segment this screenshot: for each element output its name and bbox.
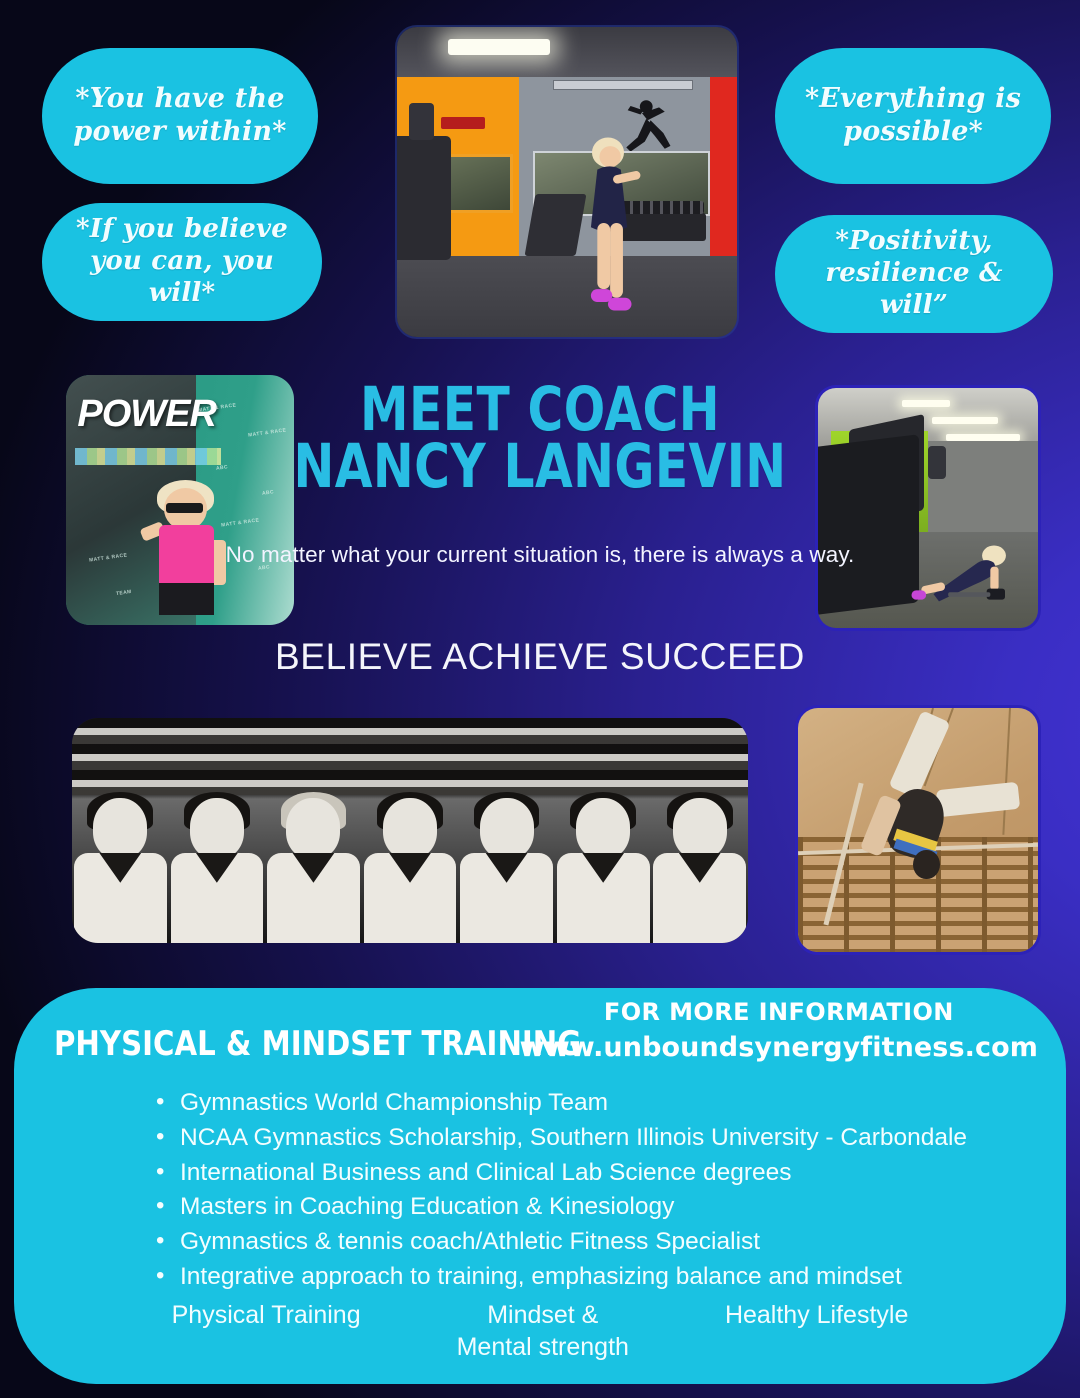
contact-block: FOR MORE INFORMATION www.unboundsynergyf… (520, 998, 1038, 1063)
photo-gym-training (397, 27, 737, 337)
website-url[interactable]: www.unboundsynergyfitness.com (520, 1032, 1038, 1063)
quote-text: *Positivity, resilience & will” (791, 226, 1037, 321)
photo-uneven-bars (798, 708, 1038, 952)
quote-bubble-top-left: *You have the power within* (42, 48, 318, 184)
title-line-2: NANCY LANGEVIN (108, 439, 972, 496)
pillars-row: Physical TrainingMindset &Mental strengt… (14, 1300, 1066, 1363)
credential-item: International Business and Clinical Lab … (154, 1156, 1054, 1191)
ceiling-light-icon (448, 39, 550, 55)
page-title: MEET COACH NANCY LANGEVIN (108, 382, 972, 495)
athlete-figure-icon (574, 129, 642, 321)
credential-item: Gymnastics & tennis coach/Athletic Fitne… (154, 1225, 1054, 1260)
credential-item: NCAA Gymnastics Scholarship, Southern Il… (154, 1121, 1054, 1156)
pillar-item: Mindset &Mental strength (457, 1300, 629, 1363)
credential-item: Masters in Coaching Education & Kinesiol… (154, 1190, 1054, 1225)
subtitle-text: No matter what your current situation is… (0, 540, 1080, 570)
quote-bubble-bottom-right: *Positivity, resilience & will” (775, 215, 1053, 333)
photo-gymnastics-team (72, 718, 748, 943)
flyer-canvas: *You have the power within* *If you beli… (0, 0, 1080, 1398)
credential-item: Integrative approach to training, emphas… (154, 1260, 1054, 1295)
panel-heading: PHYSICAL & MINDSET TRAINING (54, 1024, 581, 1064)
quote-text: *You have the power within* (62, 83, 298, 149)
info-panel: PHYSICAL & MINDSET TRAINING FOR MORE INF… (14, 988, 1066, 1384)
pillar-item: Physical Training (172, 1300, 361, 1363)
quote-text: *If you believe you can, you will* (56, 214, 308, 309)
contact-label: FOR MORE INFORMATION (520, 998, 1038, 1026)
tagline-text: BELIEVE ACHIEVE SUCCEED (0, 636, 1080, 678)
quote-text: *Everything is possible* (795, 83, 1031, 149)
quote-bubble-top-right: *Everything is possible* (775, 48, 1051, 184)
quote-bubble-bottom-left: *If you believe you can, you will* (42, 203, 322, 321)
credential-item: Gymnastics World Championship Team (154, 1086, 1054, 1121)
credentials-list: Gymnastics World Championship TeamNCAA G… (154, 1086, 1054, 1295)
pillar-item: Healthy Lifestyle (725, 1300, 908, 1363)
